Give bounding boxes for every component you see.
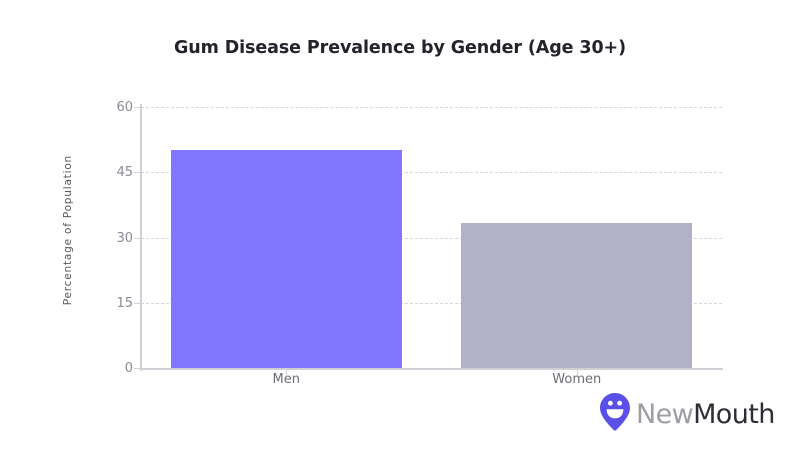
bar-men[interactable] [171, 150, 402, 368]
bar-women[interactable] [461, 223, 692, 368]
brand-word-new: New [636, 399, 693, 430]
brand-word-mouth: Mouth [693, 399, 775, 430]
brand-wordmark: NewMouth [636, 401, 775, 428]
y-tick-label: 0 [93, 362, 133, 375]
y-tick-label: 45 [93, 166, 133, 179]
y-axis-title: Percentage of Population [62, 155, 80, 305]
y-tick-label: 60 [93, 101, 133, 114]
y-tick-label: 15 [93, 297, 133, 310]
x-tick-label-men: Men [273, 372, 300, 387]
map-pin-smiley-icon [600, 393, 630, 435]
x-tick-label-women: Women [552, 372, 601, 387]
plot-area [141, 107, 722, 368]
newmouth-logo[interactable]: NewMouth [600, 393, 775, 435]
y-tick-label: 30 [93, 232, 133, 245]
x-axis-line [141, 368, 723, 370]
chart-title: Gum Disease Prevalence by Gender (Age 30… [0, 38, 800, 58]
bar-chart: Gum Disease Prevalence by Gender (Age 30… [0, 0, 800, 470]
